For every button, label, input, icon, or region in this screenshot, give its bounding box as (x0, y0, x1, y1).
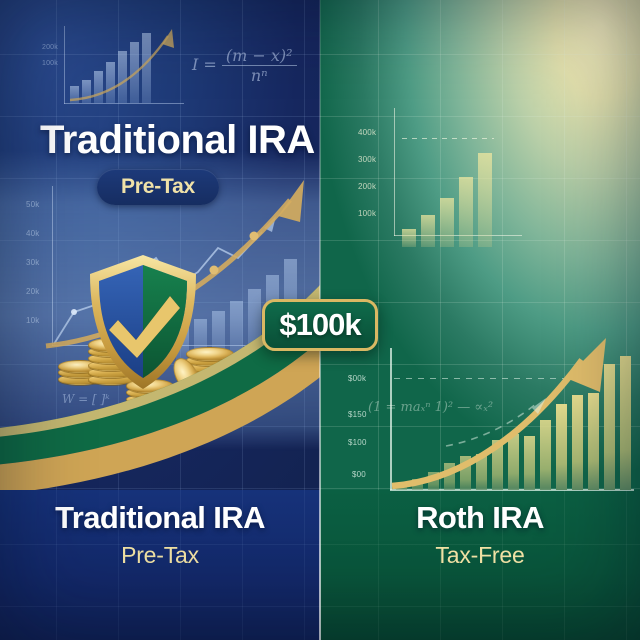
left-main-ytick-4: 50k (26, 200, 40, 209)
right-lower-ytick-0: $00 (352, 470, 366, 479)
left-main-ytick-3: 40k (26, 229, 40, 238)
footer-left-subtitle: Pre-Tax (0, 542, 320, 569)
left-formula-numerator: (m − x)² (222, 46, 297, 65)
infographic-canvas: 200k 100k I = (m − x)² nⁿ Traditional IR… (0, 0, 640, 640)
right-upper-ytick-0: 100k (358, 209, 376, 218)
right-upper-ytick-2: 300k (358, 155, 376, 164)
right-lower-ytick-3: $00k (348, 374, 366, 383)
right-formula-bottom: (1 = maₓⁿ 1)² — ∝ₓ² (368, 400, 493, 415)
right-lower-ytick-2: $150 (348, 410, 367, 419)
gold-green-swoosh-band (0, 250, 320, 510)
footer-right-title: Roth IRA (320, 500, 640, 536)
right-lower-chart: $20k $00k $150 $100 $00 (1 = maₓⁿ 1)² — … (346, 348, 636, 498)
left-formula-lhs: I = (192, 55, 217, 74)
left-mini-chart: 200k 100k (42, 26, 184, 110)
right-upper-chart: 400k 300k 200k 100k (356, 108, 531, 248)
right-upper-ytick-3: 400k (358, 128, 376, 137)
footer-left: Traditional IRA Pre-Tax (0, 500, 320, 569)
right-lower-ytick-1: $100 (348, 438, 367, 447)
status-badge[interactable]: $100k (262, 299, 378, 351)
badge-value: $100k (279, 307, 360, 343)
footer-right: Roth IRA Tax-Free (320, 500, 640, 569)
footer-right-subtitle: Tax-Free (320, 542, 640, 569)
footer-left-title: Traditional IRA (0, 500, 320, 536)
right-upper-ytick-1: 200k (358, 182, 376, 191)
left-mini-ytick-0: 100k (42, 60, 58, 67)
left-formula-top: I = (m − x)² nⁿ (192, 46, 297, 85)
left-mini-ytick-1: 200k (42, 44, 58, 51)
left-headline: Traditional IRA (40, 118, 315, 163)
left-formula-denominator: nⁿ (222, 65, 297, 85)
